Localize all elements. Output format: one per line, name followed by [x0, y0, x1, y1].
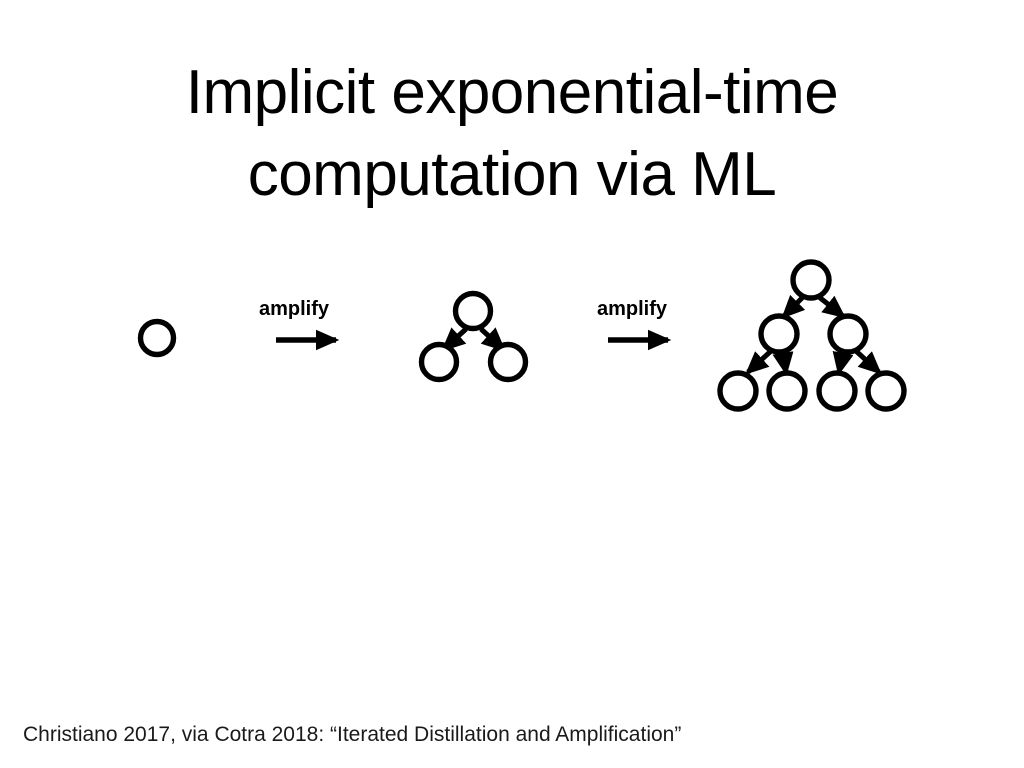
node-circle	[720, 373, 756, 409]
stage-3-three-level-tree	[720, 262, 904, 409]
node-circle	[141, 322, 174, 355]
stage-2-two-level-tree	[422, 294, 526, 380]
node-circle	[456, 294, 491, 329]
page-title: Implicit exponential-time computation vi…	[0, 52, 1024, 216]
node-circle	[769, 373, 805, 409]
title-line-1: Implicit exponential-time	[0, 52, 1024, 134]
node-circle	[761, 316, 797, 352]
node-circle	[819, 373, 855, 409]
amplification-diagram: amplify amplify	[0, 236, 1024, 436]
node-circle	[422, 345, 457, 380]
node-circle	[868, 373, 904, 409]
diagram-graphics	[0, 236, 1024, 436]
node-circle	[491, 345, 526, 380]
stage-2-edges	[444, 329, 503, 349]
source-caption: Christiano 2017, via Cotra 2018: “Iterat…	[23, 723, 681, 747]
node-circle	[830, 316, 866, 352]
stage-1-single-node	[141, 322, 174, 355]
title-line-2: computation via ML	[0, 134, 1024, 216]
amplify-label-2: amplify	[597, 298, 667, 321]
node-circle	[793, 262, 829, 298]
slide-canvas: Implicit exponential-time computation vi…	[0, 0, 1024, 768]
amplify-label-1: amplify	[259, 298, 329, 321]
